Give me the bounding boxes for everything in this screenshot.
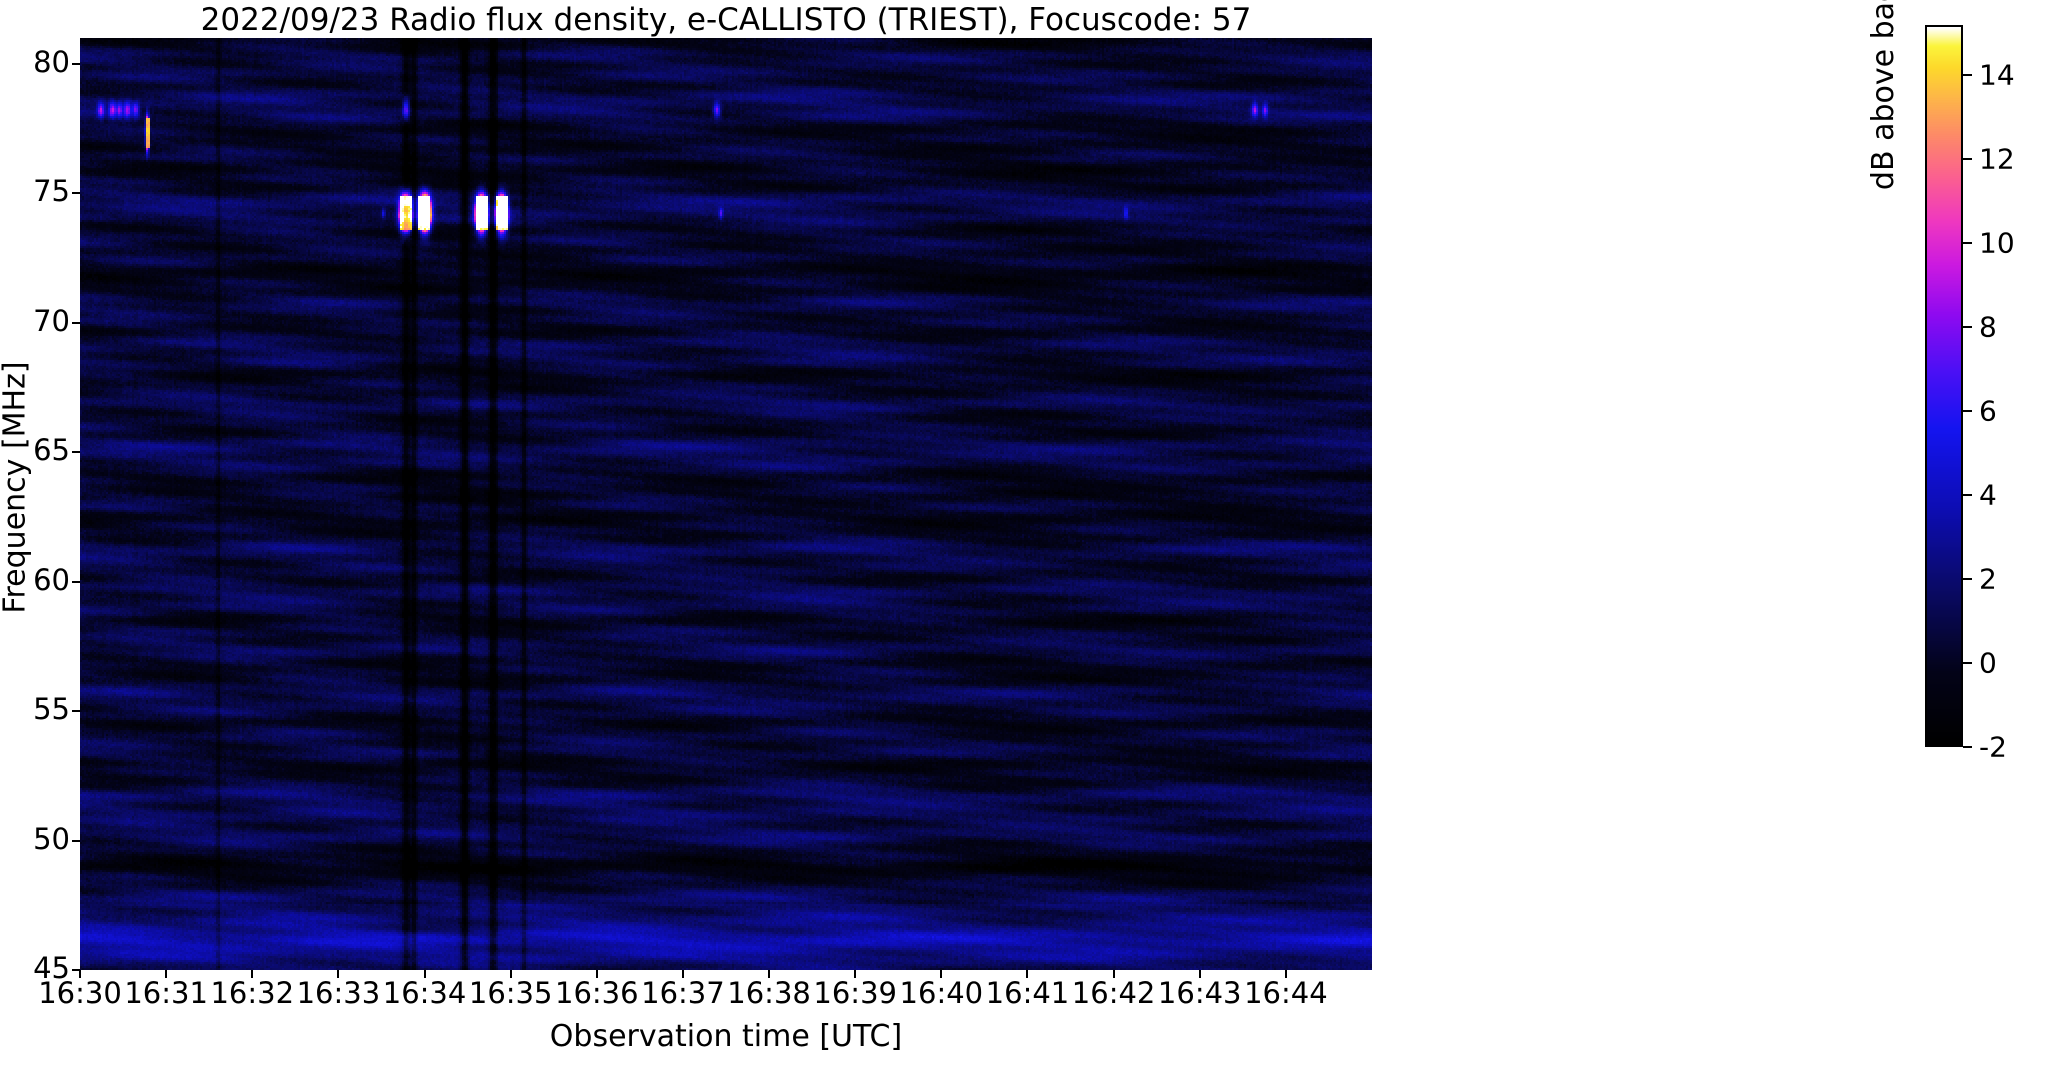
colorbar-tick-label: -2 — [1979, 731, 2007, 764]
x-tick-mark — [165, 970, 167, 978]
colorbar-tick-label: 12 — [1979, 143, 2015, 176]
x-tick-label: 16:40 — [900, 976, 984, 1010]
colorbar-tick-mark — [1963, 158, 1972, 160]
y-tick-mark — [72, 192, 80, 194]
x-tick-label: 16:37 — [641, 976, 725, 1010]
x-tick-label: 16:35 — [469, 976, 553, 1010]
colorbar-tick-mark — [1963, 746, 1972, 748]
x-tick-mark — [682, 970, 684, 978]
x-tick-label: 16:36 — [555, 976, 639, 1010]
x-tick-label: 16:30 — [38, 976, 122, 1010]
y-tick-mark — [72, 451, 80, 453]
colorbar-tick-label: 0 — [1979, 647, 1997, 680]
x-tick-label: 16:42 — [1072, 976, 1156, 1010]
colorbar-label: dB above background — [1866, 0, 1901, 386]
x-tick-label: 16:43 — [1158, 976, 1242, 1010]
y-tick-label: 55 — [8, 692, 70, 726]
colorbar-tick-mark — [1963, 326, 1972, 328]
y-tick-mark — [72, 840, 80, 842]
x-tick-mark — [854, 970, 856, 978]
colorbar-tick-label: 4 — [1979, 479, 1997, 512]
colorbar-tick-label: 10 — [1979, 227, 2015, 260]
y-tick-label: 80 — [8, 45, 70, 79]
x-tick-label: 16:31 — [124, 976, 208, 1010]
y-tick-label: 70 — [8, 304, 70, 338]
x-tick-mark — [337, 970, 339, 978]
x-tick-label: 16:32 — [210, 976, 294, 1010]
x-tick-mark — [79, 970, 81, 978]
colorbar-tick-label: 14 — [1979, 59, 2015, 92]
x-tick-mark — [424, 970, 426, 978]
y-tick-label: 65 — [8, 433, 70, 467]
x-tick-label: 16:33 — [297, 976, 381, 1010]
x-tick-label: 16:39 — [813, 976, 897, 1010]
colorbar-tick-mark — [1963, 662, 1972, 664]
y-tick-mark — [72, 63, 80, 65]
x-tick-mark — [596, 970, 598, 978]
colorbar — [1925, 25, 1963, 747]
colorbar-tick-label: 6 — [1979, 395, 1997, 428]
x-tick-mark — [940, 970, 942, 978]
y-tick-mark — [72, 710, 80, 712]
x-axis-label: Observation time [UTC] — [80, 1019, 1372, 1054]
colorbar-tick-label: 8 — [1979, 311, 1997, 344]
y-tick-label: 75 — [8, 174, 70, 208]
colorbar-tick-mark — [1963, 242, 1972, 244]
y-tick-mark — [72, 322, 80, 324]
x-tick-mark — [1026, 970, 1028, 978]
colorbar-tick-mark — [1963, 578, 1972, 580]
x-tick-mark — [1285, 970, 1287, 978]
x-tick-label: 16:38 — [727, 976, 811, 1010]
x-tick-label: 16:34 — [383, 976, 467, 1010]
x-tick-mark — [1199, 970, 1201, 978]
x-tick-mark — [510, 970, 512, 978]
y-tick-label: 50 — [8, 822, 70, 856]
colorbar-tick-label: 2 — [1979, 563, 1997, 596]
x-tick-mark — [251, 970, 253, 978]
colorbar-tick-mark — [1963, 494, 1972, 496]
x-tick-label: 16:44 — [1244, 976, 1328, 1010]
spectrogram-image — [80, 38, 1372, 970]
spectrogram-plot-area — [80, 38, 1372, 970]
x-tick-mark — [1113, 970, 1115, 978]
x-tick-mark — [768, 970, 770, 978]
x-tick-label: 16:41 — [986, 976, 1070, 1010]
page-title: 2022/09/23 Radio flux density, e-CALLIST… — [80, 2, 1372, 38]
colorbar-tick-mark — [1963, 410, 1972, 412]
y-tick-mark — [72, 581, 80, 583]
colorbar-tick-mark — [1963, 74, 1972, 76]
y-tick-label: 60 — [8, 563, 70, 597]
colorbar-gradient — [1927, 27, 1961, 745]
y-axis-label: Frequency [MHz] — [0, 18, 33, 958]
